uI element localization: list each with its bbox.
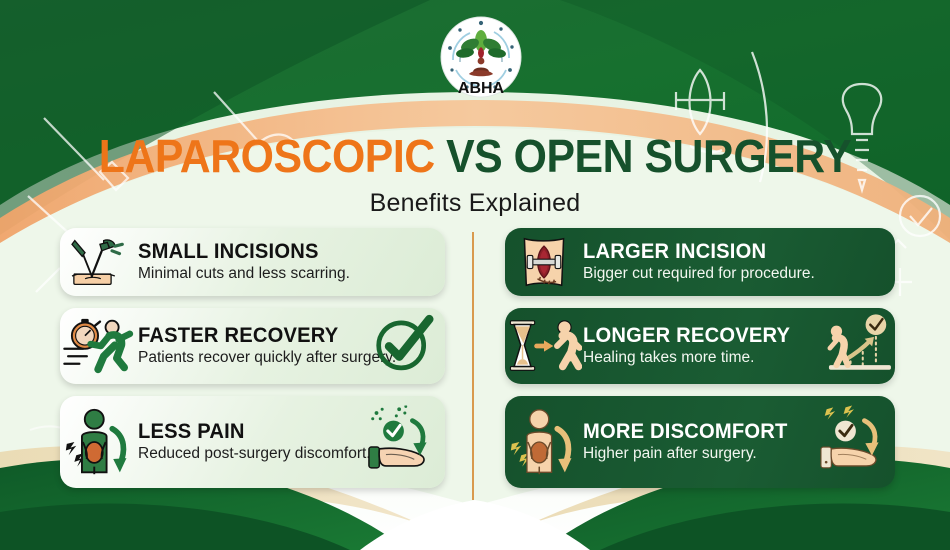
card-text: MORE DISCOMFORT Higher pain after surger… [583, 421, 895, 463]
card-text: FASTER RECOVERY Patients recover quickly… [138, 325, 445, 367]
surgical-instruments-icon [60, 228, 138, 296]
card-longer-recovery[interactable]: LONGER RECOVERY Healing takes more time. [505, 308, 895, 384]
card-text: LARGER INCISION Bigger cut required for … [583, 241, 895, 283]
card-title: SMALL INCISIONS [138, 241, 423, 263]
stopwatch-runner-icon [60, 308, 138, 384]
abdominal-pain-skin-icon [505, 396, 583, 488]
card-description: Higher pain after surgery. [583, 445, 885, 463]
card-more-discomfort[interactable]: MORE DISCOMFORT Higher pain after surger… [505, 396, 895, 488]
card-description: Minimal cuts and less scarring. [138, 265, 435, 283]
card-text: LONGER RECOVERY Healing takes more time. [583, 325, 895, 367]
laparoscopic-column: SMALL INCISIONS Minimal cuts and less sc… [60, 228, 445, 500]
card-title: MORE DISCOMFORT [583, 421, 873, 443]
page-title: LAPAROSCOPIC VS OPEN SURGERY [33, 133, 917, 179]
card-title: LESS PAIN [138, 421, 423, 443]
card-text: SMALL INCISIONS Minimal cuts and less sc… [138, 241, 445, 283]
card-faster-recovery[interactable]: FASTER RECOVERY Patients recover quickly… [60, 308, 445, 384]
card-title: LARGER INCISION [583, 241, 873, 263]
title-part-vs-open-surgery: VS OPEN SURGERY [446, 130, 851, 182]
card-description: Healing takes more time. [583, 349, 885, 367]
abdominal-pain-icon [60, 396, 138, 488]
infographic-canvas: ABHA LAPAROSCOPIC VS OPEN SURGERY Benefi… [0, 0, 950, 550]
title-block: LAPAROSCOPIC VS OPEN SURGERY Benefits Ex… [0, 133, 950, 218]
column-divider [472, 232, 474, 500]
logo-text: ABHA [458, 80, 505, 97]
card-description: Patients recover quickly after surgery. [138, 349, 435, 367]
card-title: LONGER RECOVERY [583, 325, 873, 347]
hourglass-walker-icon [505, 308, 583, 384]
title-part-laparoscopic: LAPAROSCOPIC [99, 130, 435, 182]
card-small-incisions[interactable]: SMALL INCISIONS Minimal cuts and less sc… [60, 228, 445, 296]
card-description: Bigger cut required for procedure. [583, 265, 885, 283]
card-larger-incision[interactable]: LARGER INCISION Bigger cut required for … [505, 228, 895, 296]
card-text: LESS PAIN Reduced post-surgery discomfor… [138, 421, 445, 463]
card-description: Reduced post-surgery discomfort. [138, 445, 435, 463]
card-title: FASTER RECOVERY [138, 325, 423, 347]
page-subtitle: Benefits Explained [0, 189, 950, 218]
card-less-pain[interactable]: LESS PAIN Reduced post-surgery discomfor… [60, 396, 445, 488]
abha-logo: ABHA [440, 16, 522, 98]
open-incision-icon [505, 228, 583, 296]
open-surgery-column: LARGER INCISION Bigger cut required for … [505, 228, 895, 500]
